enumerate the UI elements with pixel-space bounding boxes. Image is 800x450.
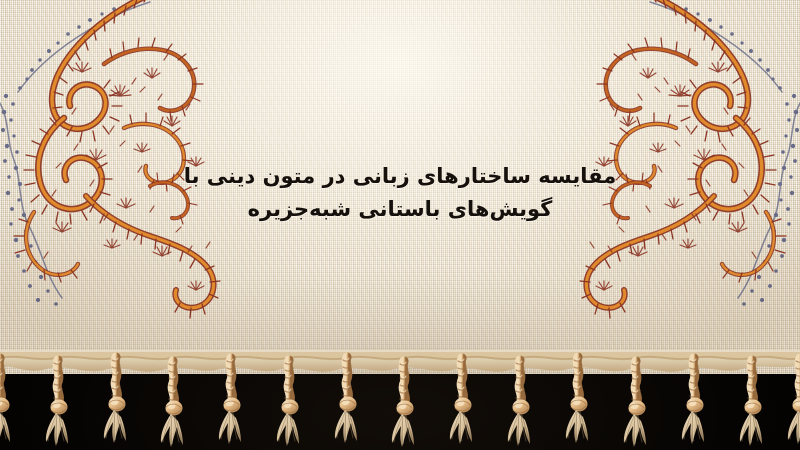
linen-cloth-background <box>0 0 800 374</box>
title-card-canvas: مقایسه ساختارهای زبانی در متون دینی با گ… <box>0 0 800 450</box>
